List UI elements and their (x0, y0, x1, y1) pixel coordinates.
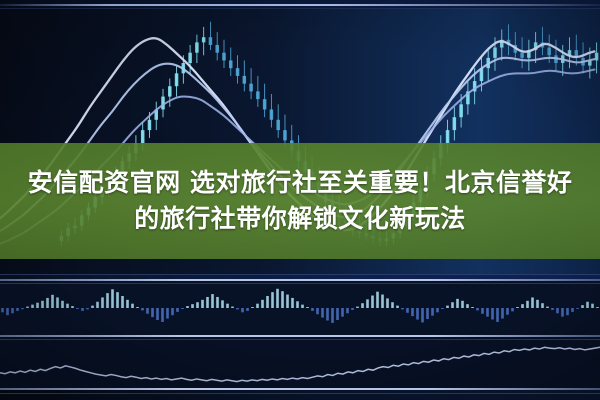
headline-line-1: 安信配资官网 选对旅行社至关重要！北京信誉好 (28, 167, 573, 199)
top-secondary-rule (0, 8, 600, 9)
separator-thin-below-macd-top (0, 283, 600, 284)
separator-bottom (0, 388, 600, 390)
headline-block: 安信配资官网 选对旅行社至关重要！北京信誉好 的旅行社带你解锁文化新玩法 (0, 143, 600, 259)
separator-price-macd (0, 279, 600, 281)
headline-line-2: 的旅行社带你解锁文化新玩法 (134, 203, 466, 235)
separator-thin-bottom (0, 393, 600, 394)
separator-thin-below-trend-top (0, 339, 600, 340)
stock-chart-banner: 安信配资官网 选对旅行社至关重要！北京信誉好 的旅行社带你解锁文化新玩法 (0, 0, 600, 400)
separator-thin-above-macd (0, 274, 600, 275)
separator-macd-trend (0, 335, 600, 337)
top-highlight-rule (0, 4, 600, 6)
